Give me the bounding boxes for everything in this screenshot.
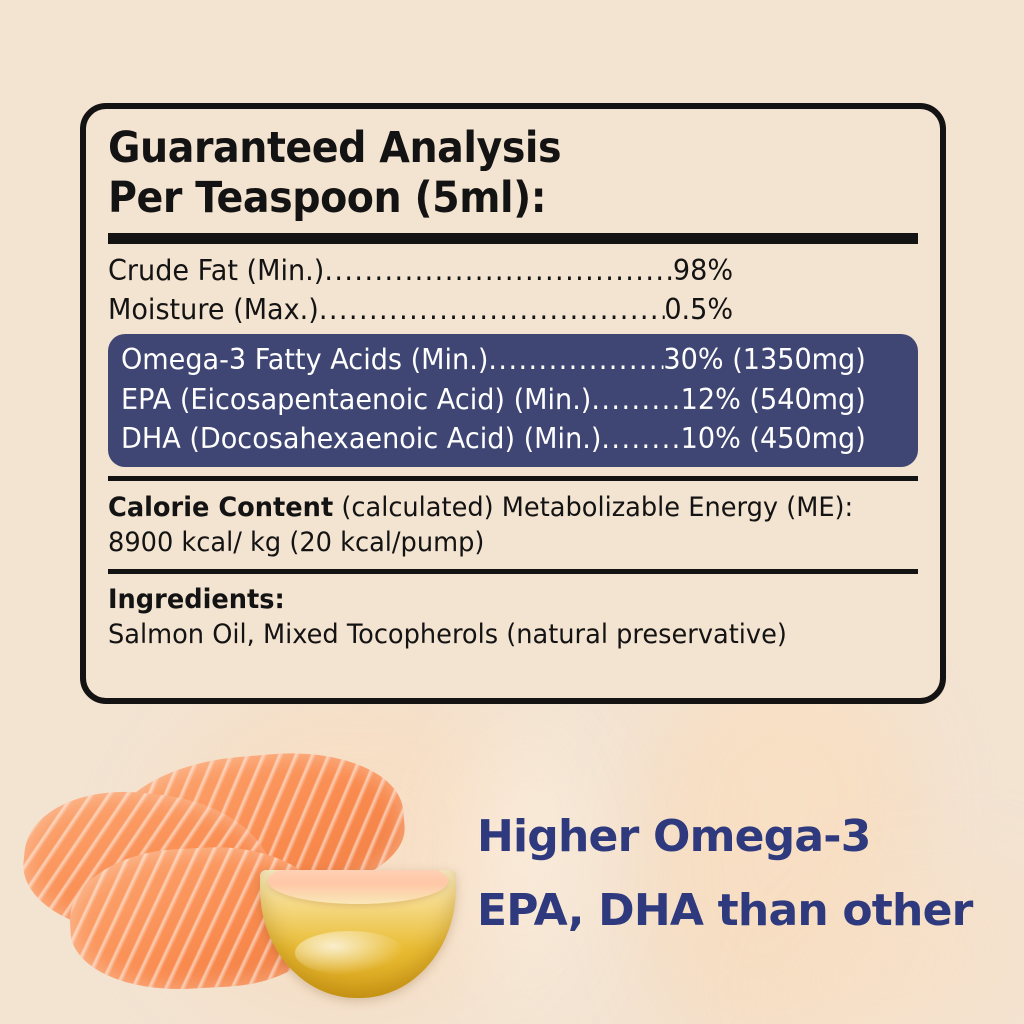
marketing-headline-line-2: EPA, DHA than other <box>477 874 1007 948</box>
dot-leader: ........................ <box>488 340 663 380</box>
omega-highlight-box: Omega-3 Fatty Acids (Min.) .............… <box>108 334 918 467</box>
analysis-row-label: Crude Fat (Min.) <box>108 251 324 290</box>
ingredients-body: Salmon Oil, Mixed Tocopherols (natural p… <box>108 617 878 652</box>
dot-leader: ........................................… <box>324 251 673 290</box>
analysis-row: Moisture (Max.) ........................… <box>108 290 878 329</box>
calorie-content-heading: Calorie Content <box>108 492 333 523</box>
oil-surface <box>268 870 448 904</box>
title-divider <box>108 233 918 244</box>
analysis-plain-rows: Crude Fat (Min.) .......................… <box>108 244 918 329</box>
marketing-headline-line-1: Higher Omega-3 <box>477 800 1007 874</box>
analysis-row-value: 0.5% <box>664 290 733 329</box>
dot-leader: ........................................ <box>319 290 664 329</box>
page-title: Guaranteed Analysis Per Teaspoon (5ml): <box>108 109 853 223</box>
analysis-row: Omega-3 Fatty Acids (Min.) .............… <box>121 340 866 380</box>
marketing-headline: Higher Omega-3 EPA, DHA than other <box>477 800 1007 948</box>
analysis-row-label: Omega-3 Fatty Acids (Min.) <box>121 340 488 380</box>
analysis-row: EPA (Eicosapentaenoic Acid) (Min.) .....… <box>121 380 866 420</box>
salmon-fillets-photo <box>8 742 460 1012</box>
oil-glint <box>295 931 405 975</box>
salmon-oil-bowl-photo <box>260 870 456 998</box>
analysis-row: DHA (Docosahexaenoic Acid) (Min.) ......… <box>121 419 866 459</box>
analysis-row-label: DHA (Docosahexaenoic Acid) (Min.) <box>121 419 601 459</box>
analysis-row-label: Moisture (Max.) <box>108 290 319 329</box>
dot-leader: ......... <box>601 419 680 459</box>
analysis-row-value: 30% (1350mg) <box>663 340 865 380</box>
analysis-row: Crude Fat (Min.) .......................… <box>108 251 878 290</box>
guaranteed-analysis-card: Guaranteed Analysis Per Teaspoon (5ml): … <box>80 103 946 704</box>
ingredients-heading: Ingredients: <box>108 574 878 617</box>
analysis-row-value: 98% <box>673 251 733 290</box>
analysis-row-label: EPA (Eicosapentaenoic Acid) (Min.) <box>121 380 591 420</box>
analysis-row-value: 10% (450mg) <box>681 419 866 459</box>
analysis-row-value: 12% (540mg) <box>681 380 866 420</box>
dot-leader: .......... <box>591 380 680 420</box>
calorie-content-block: Calorie Content (calculated) Metabolizab… <box>108 481 878 560</box>
